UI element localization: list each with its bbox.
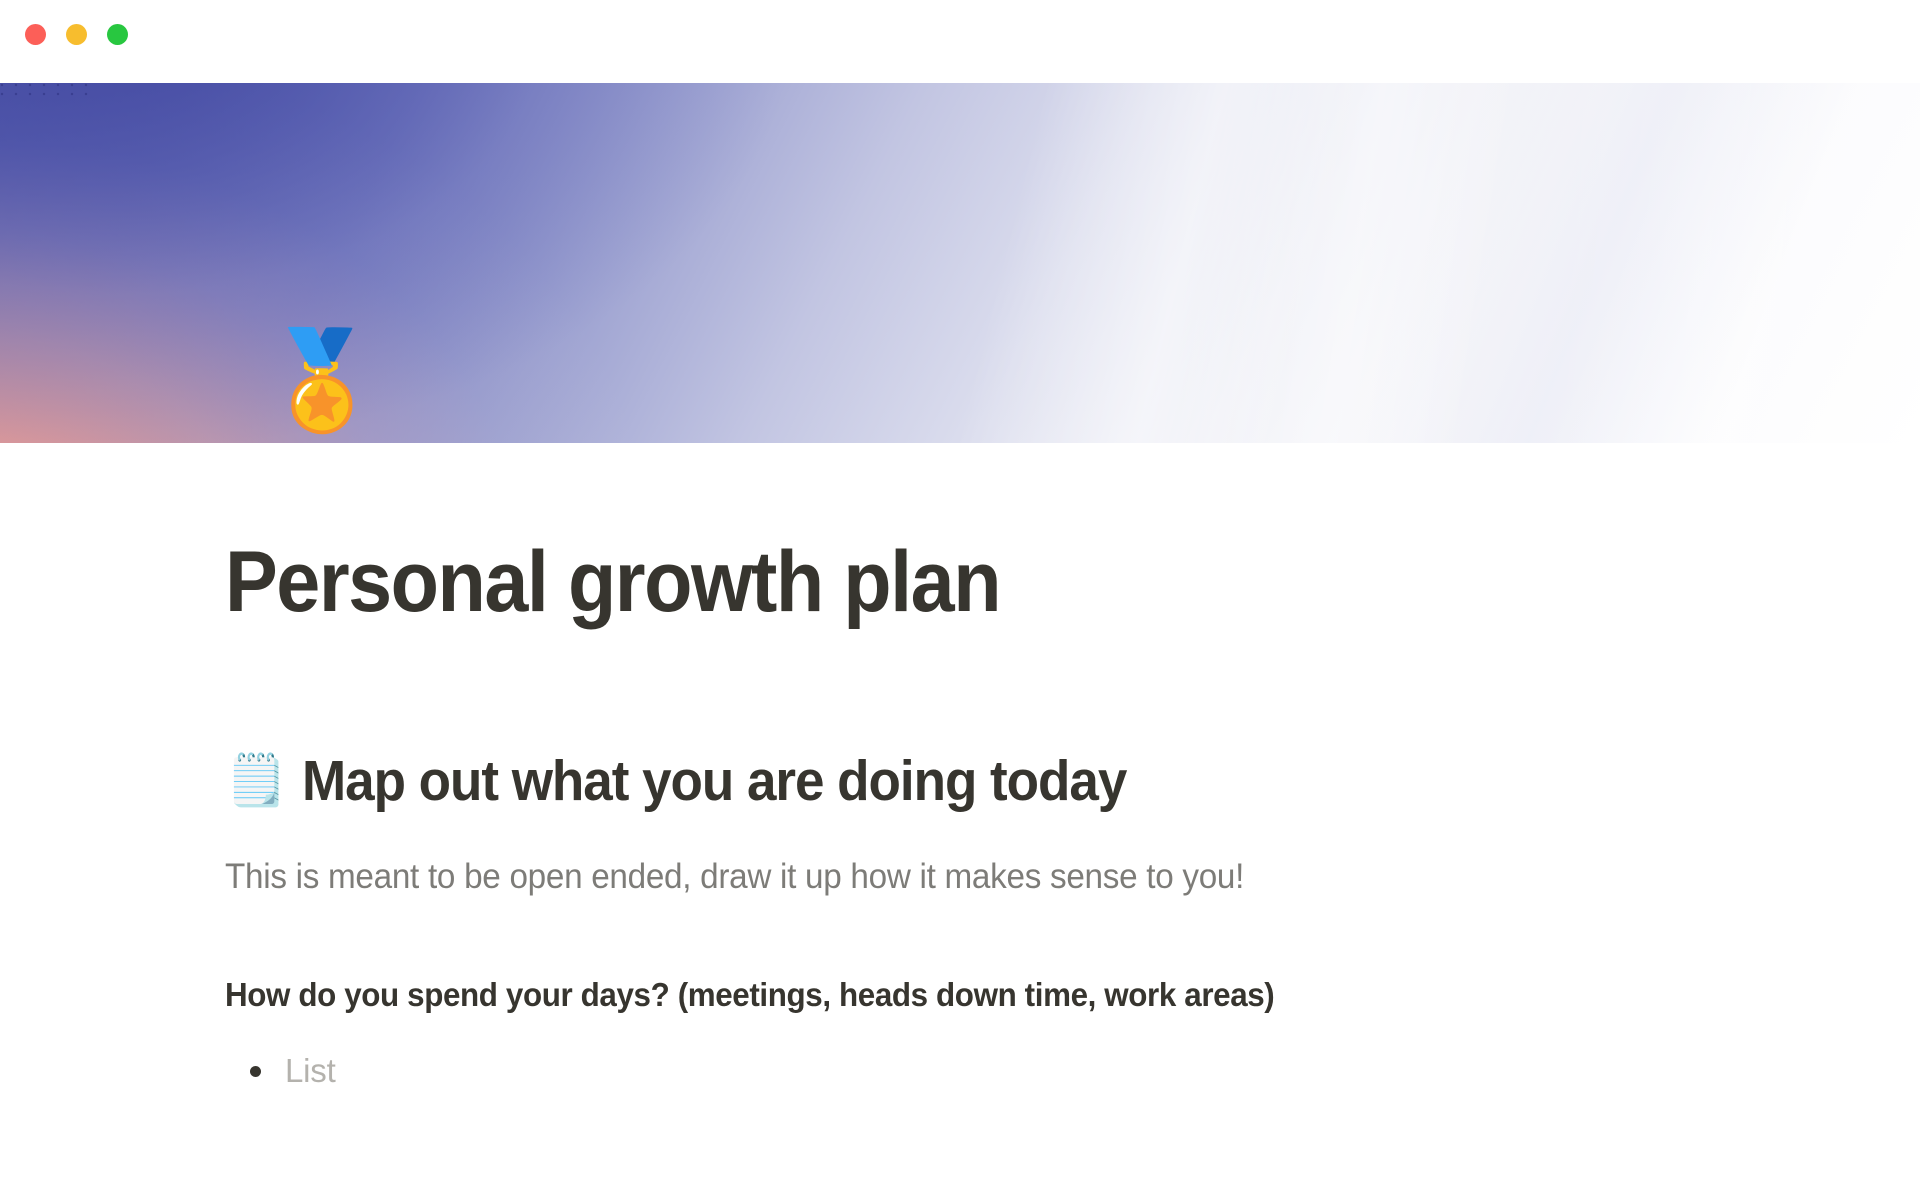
page-content-column: Personal growth plan 🗒️ Map out what you… [0, 537, 1920, 1096]
traffic-light-controls [25, 24, 128, 45]
minimize-window-button[interactable] [66, 24, 87, 45]
close-window-button[interactable] [25, 24, 46, 45]
zoom-window-button[interactable] [107, 24, 128, 45]
bullet-point-icon [225, 1066, 285, 1077]
section-description[interactable]: This is meant to be open ended, draw it … [225, 852, 1835, 903]
bulleted-list: List [225, 1046, 1920, 1096]
window-titlebar [0, 0, 1920, 83]
cover-speckle-dots [0, 83, 96, 97]
sports-medal-emoji[interactable]: 🏅 [262, 325, 372, 435]
page-title[interactable]: Personal growth plan [225, 537, 1784, 627]
list-item[interactable]: List [225, 1046, 1920, 1096]
app-window: 🏅 Personal growth plan 🗒️ Map out what y… [0, 0, 1920, 1200]
section-heading-text: Map out what you are doing today [302, 749, 1126, 815]
page-body: Personal growth plan 🗒️ Map out what you… [0, 443, 1920, 1096]
section-heading[interactable]: 🗒️ Map out what you are doing today [225, 749, 1920, 815]
prompt-question[interactable]: How do you spend your days? (meetings, h… [225, 971, 1835, 1019]
list-item-text[interactable]: List [285, 1046, 336, 1096]
spiral-notepad-emoji: 🗒️ [225, 755, 286, 805]
